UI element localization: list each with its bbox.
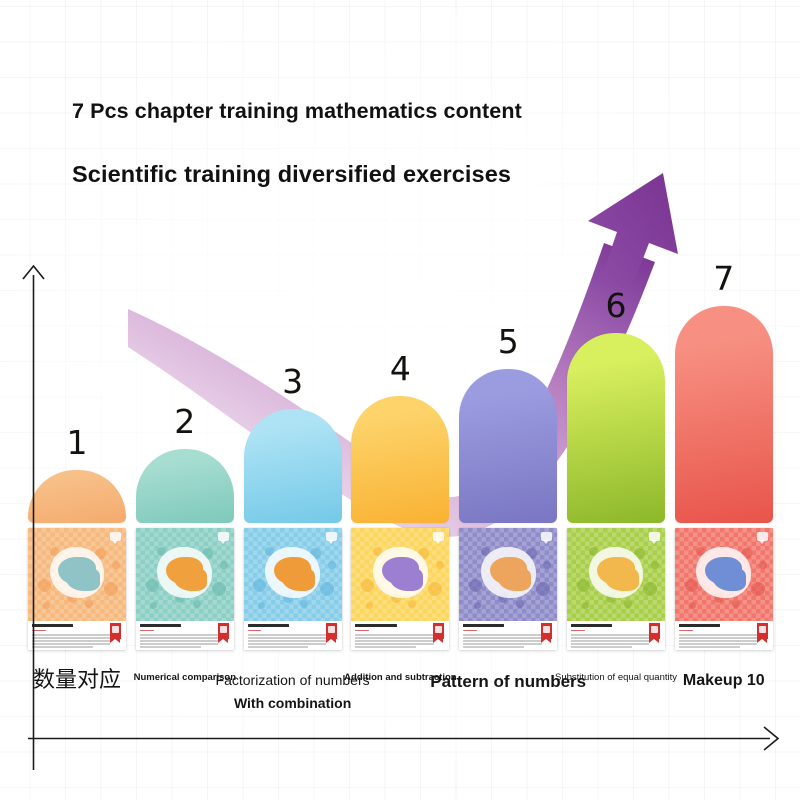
book-cover-illustration bbox=[244, 528, 342, 621]
speech-bubble-icon bbox=[757, 532, 768, 541]
footer-subtitle-bar bbox=[463, 630, 477, 632]
dinosaur-icon bbox=[382, 557, 419, 585]
book-cover-footer bbox=[351, 621, 449, 650]
book-cover-card[interactable] bbox=[244, 528, 342, 650]
book-cover-footer bbox=[136, 621, 234, 650]
footer-text-line bbox=[679, 634, 757, 635]
dinosaur-icon bbox=[597, 557, 634, 585]
book-cover-illustration bbox=[28, 528, 126, 621]
footer-text-line bbox=[140, 640, 218, 641]
chart-bar[interactable] bbox=[351, 396, 449, 523]
headline-secondary: Scientific training diversified exercise… bbox=[72, 161, 511, 188]
seal-badge bbox=[433, 623, 444, 639]
footer-text-line bbox=[571, 646, 632, 647]
seal-badge bbox=[218, 623, 229, 639]
footer-text-line bbox=[32, 634, 110, 635]
dinosaur-icon bbox=[166, 557, 203, 585]
dinosaur-icon bbox=[274, 557, 311, 585]
footer-subtitle-bar bbox=[571, 630, 585, 632]
book-cover-footer bbox=[244, 621, 342, 650]
bar-value-label: 5 bbox=[459, 325, 557, 358]
book-cover-card[interactable] bbox=[351, 528, 449, 650]
book-cover-footer bbox=[567, 621, 665, 650]
chart-bar[interactable] bbox=[459, 369, 557, 523]
footer-text-line bbox=[140, 634, 218, 635]
badge-glyph bbox=[651, 626, 658, 633]
footer-text-line bbox=[32, 643, 110, 644]
bar-value-label: 7 bbox=[675, 262, 773, 295]
book-cover-footer bbox=[459, 621, 557, 650]
footer-text-line bbox=[248, 646, 309, 647]
footer-text-line bbox=[140, 646, 201, 647]
book-cover-footer bbox=[675, 621, 773, 650]
footer-title-bar bbox=[355, 624, 396, 627]
badge-glyph bbox=[220, 626, 227, 633]
book-cover-illustration bbox=[136, 528, 234, 621]
chart-bar[interactable] bbox=[244, 409, 342, 523]
footer-text-line bbox=[463, 634, 541, 635]
bar-value-label: 4 bbox=[351, 352, 449, 385]
dinosaur-icon bbox=[58, 557, 95, 585]
footer-text-line bbox=[248, 640, 326, 641]
footer-title-bar bbox=[463, 624, 504, 627]
bar-value-label: 2 bbox=[136, 405, 234, 438]
footer-text-line bbox=[679, 646, 740, 647]
speech-bubble-icon bbox=[541, 532, 552, 541]
seal-badge bbox=[326, 623, 337, 639]
chart-bar[interactable] bbox=[675, 306, 773, 523]
footer-title-bar bbox=[32, 624, 73, 627]
footer-text-line bbox=[679, 637, 757, 638]
book-cover-card[interactable] bbox=[459, 528, 557, 650]
footer-text-line bbox=[140, 637, 218, 638]
book-cover-footer bbox=[28, 621, 126, 650]
footer-text-line bbox=[355, 634, 433, 635]
seal-badge bbox=[541, 623, 552, 639]
footer-text-line bbox=[355, 640, 433, 641]
seal-badge bbox=[757, 623, 768, 639]
footer-text-line bbox=[248, 637, 326, 638]
footer-text-line bbox=[32, 637, 110, 638]
chart-bar[interactable] bbox=[567, 333, 665, 523]
chart-bar[interactable] bbox=[28, 470, 126, 523]
footer-subtitle-bar bbox=[248, 630, 262, 632]
headline-primary: 7 Pcs chapter training mathematics conte… bbox=[72, 99, 522, 124]
book-cover-illustration bbox=[459, 528, 557, 621]
seal-badge bbox=[649, 623, 660, 639]
badge-glyph bbox=[759, 626, 766, 633]
footer-text-line bbox=[248, 643, 326, 644]
footer-text-line bbox=[679, 640, 757, 641]
book-cover-card[interactable] bbox=[675, 528, 773, 650]
footer-title-bar bbox=[571, 624, 612, 627]
dinosaur-icon bbox=[705, 557, 742, 585]
footer-text-line bbox=[571, 637, 649, 638]
speech-bubble-icon bbox=[433, 532, 444, 541]
footer-text-line bbox=[463, 643, 541, 644]
book-cover-illustration bbox=[351, 528, 449, 621]
book-cover-card[interactable] bbox=[136, 528, 234, 650]
footer-subtitle-bar bbox=[140, 630, 154, 632]
footer-subtitle-bar bbox=[355, 630, 369, 632]
footer-text-line bbox=[463, 637, 541, 638]
category-label: Makeup 10 bbox=[614, 672, 800, 690]
footer-text-line bbox=[463, 646, 524, 647]
badge-glyph bbox=[435, 626, 442, 633]
bar-value-label: 3 bbox=[244, 365, 342, 398]
category-label-secondline: With combination bbox=[183, 695, 403, 711]
footer-text-line bbox=[248, 634, 326, 635]
book-cover-card[interactable] bbox=[28, 528, 126, 650]
dinosaur-icon bbox=[490, 557, 527, 585]
bar-value-label: 6 bbox=[567, 289, 665, 322]
footer-title-bar bbox=[679, 624, 720, 627]
badge-glyph bbox=[328, 626, 335, 633]
chart-bar[interactable] bbox=[136, 449, 234, 523]
footer-text-line bbox=[32, 646, 93, 647]
footer-text-line bbox=[463, 640, 541, 641]
speech-bubble-icon bbox=[326, 532, 337, 541]
footer-text-line bbox=[355, 643, 433, 644]
footer-title-bar bbox=[140, 624, 181, 627]
seal-badge bbox=[110, 623, 121, 639]
bar-value-label: 1 bbox=[28, 426, 126, 459]
book-cover-illustration bbox=[675, 528, 773, 621]
badge-glyph bbox=[112, 626, 119, 633]
footer-title-bar bbox=[248, 624, 289, 627]
book-cover-card[interactable] bbox=[567, 528, 665, 650]
footer-text-line bbox=[679, 643, 757, 644]
footer-subtitle-bar bbox=[32, 630, 46, 632]
footer-text-line bbox=[355, 646, 416, 647]
footer-text-line bbox=[355, 637, 433, 638]
footer-text-line bbox=[32, 640, 110, 641]
badge-glyph bbox=[543, 626, 550, 633]
speech-bubble-icon bbox=[649, 532, 660, 541]
speech-bubble-icon bbox=[110, 532, 121, 541]
speech-bubble-icon bbox=[218, 532, 229, 541]
footer-text-line bbox=[571, 634, 649, 635]
footer-text-line bbox=[571, 643, 649, 644]
footer-text-line bbox=[571, 640, 649, 641]
footer-subtitle-bar bbox=[679, 630, 693, 632]
footer-text-line bbox=[140, 643, 218, 644]
book-cover-illustration bbox=[567, 528, 665, 621]
